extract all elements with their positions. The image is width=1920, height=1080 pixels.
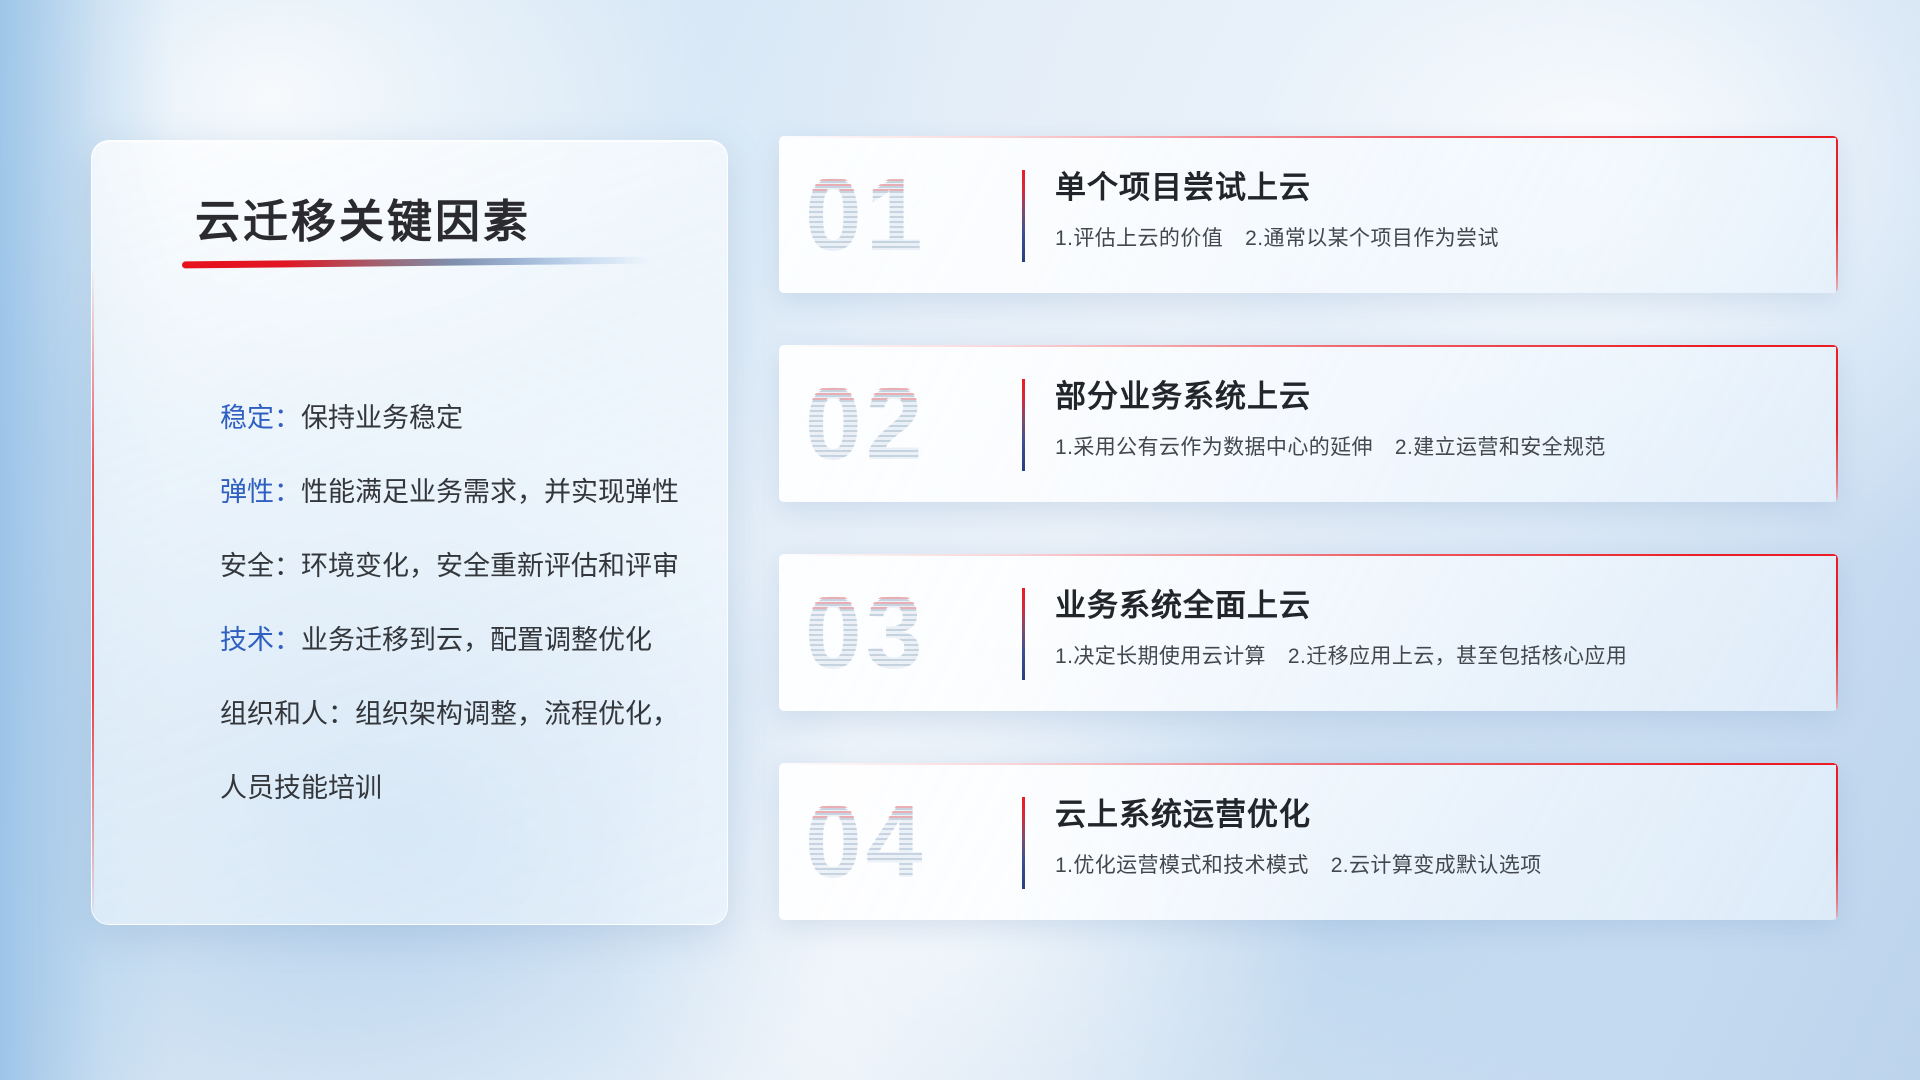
list-item-label: 弹性： <box>220 477 301 507</box>
step-card-04[interactable]: 04 04 04 云上系统运营优化 1.优化运营模式和技术模式2.云计算变成默认… <box>779 763 1838 920</box>
step-point-2: 2.建立运营和安全规范 <box>1395 436 1606 459</box>
list-item: 安全：环境变化，安全重新评估和评审 <box>220 529 690 603</box>
step-number-highlight: 04 <box>805 781 1015 821</box>
list-item-text: 人员技能培训 <box>220 773 382 803</box>
step-card-03[interactable]: 03 03 03 业务系统全面上云 1.决定长期使用云计算2.迁移应用上云，甚至… <box>779 554 1838 711</box>
step-point-1: 1.决定长期使用云计算 <box>1055 645 1266 668</box>
step-point-1: 1.评估上云的价值 <box>1055 227 1223 250</box>
step-point-2: 2.云计算变成默认选项 <box>1331 854 1542 877</box>
step-divider-accent <box>1022 170 1025 262</box>
step-number-highlight: 02 <box>805 363 1015 403</box>
step-subtitle: 1.优化运营模式和技术模式2.云计算变成默认选项 <box>1055 849 1542 879</box>
step-divider-accent <box>1022 797 1025 889</box>
step-card-01[interactable]: 01 01 01 单个项目尝试上云 1.评估上云的价值2.通常以某个项目作为尝试 <box>779 136 1838 293</box>
step-title: 业务系统全面上云 <box>1055 580 1311 625</box>
step-divider-accent <box>1022 588 1025 680</box>
step-number-highlight: 01 <box>805 154 1015 194</box>
list-item: 稳定：保持业务稳定 <box>220 381 690 455</box>
list-item: 技术：业务迁移到云，配置调整优化 <box>220 603 690 677</box>
step-card-02[interactable]: 02 02 02 部分业务系统上云 1.采用公有云作为数据中心的延伸2.建立运营… <box>779 345 1838 502</box>
key-factors-list: 稳定：保持业务稳定 弹性：性能满足业务需求，并实现弹性 安全：环境变化，安全重新… <box>220 381 690 825</box>
step-title: 云上系统运营优化 <box>1055 789 1311 834</box>
list-item-text: 环境变化，安全重新评估和评审 <box>301 551 679 581</box>
list-item-label: 稳定： <box>220 403 301 433</box>
step-subtitle: 1.采用公有云作为数据中心的延伸2.建立运营和安全规范 <box>1055 431 1606 461</box>
key-factors-panel: 云迁移关键因素 稳定：保持业务稳定 弹性：性能满足业务需求，并实现弹性 安全：环… <box>91 140 728 925</box>
migration-steps-list: 01 01 01 单个项目尝试上云 1.评估上云的价值2.通常以某个项目作为尝试… <box>779 136 1838 972</box>
list-item-text: 保持业务稳定 <box>301 403 463 433</box>
step-title: 单个项目尝试上云 <box>1055 162 1311 207</box>
list-item: 弹性：性能满足业务需求，并实现弹性 <box>220 455 690 529</box>
list-item-continuation: 人员技能培训 <box>220 751 690 825</box>
title-underline-accent <box>182 257 652 269</box>
list-item-text: 性能满足业务需求，并实现弹性 <box>301 477 679 507</box>
list-item-label: 技术： <box>220 625 301 655</box>
list-item-label: 组织和人： <box>220 699 355 729</box>
step-point-1: 1.优化运营模式和技术模式 <box>1055 854 1309 877</box>
step-divider-accent <box>1022 379 1025 471</box>
step-subtitle: 1.决定长期使用云计算2.迁移应用上云，甚至包括核心应用 <box>1055 640 1627 670</box>
step-point-2: 2.通常以某个项目作为尝试 <box>1245 227 1499 250</box>
list-item: 组织和人：组织架构调整，流程优化， <box>220 677 690 751</box>
list-item-label: 安全： <box>220 551 301 581</box>
step-subtitle: 1.评估上云的价值2.通常以某个项目作为尝试 <box>1055 222 1499 252</box>
slide-stage: 云迁移关键因素 稳定：保持业务稳定 弹性：性能满足业务需求，并实现弹性 安全：环… <box>0 0 1920 1080</box>
panel-title: 云迁移关键因素 <box>195 185 531 250</box>
step-point-2: 2.迁移应用上云，甚至包括核心应用 <box>1288 645 1627 668</box>
list-item-text: 组织架构调整，流程优化， <box>355 699 679 729</box>
list-item-text: 业务迁移到云，配置调整优化 <box>301 625 652 655</box>
step-point-1: 1.采用公有云作为数据中心的延伸 <box>1055 436 1373 459</box>
step-number-highlight: 03 <box>805 572 1015 612</box>
step-title: 部分业务系统上云 <box>1055 371 1311 416</box>
